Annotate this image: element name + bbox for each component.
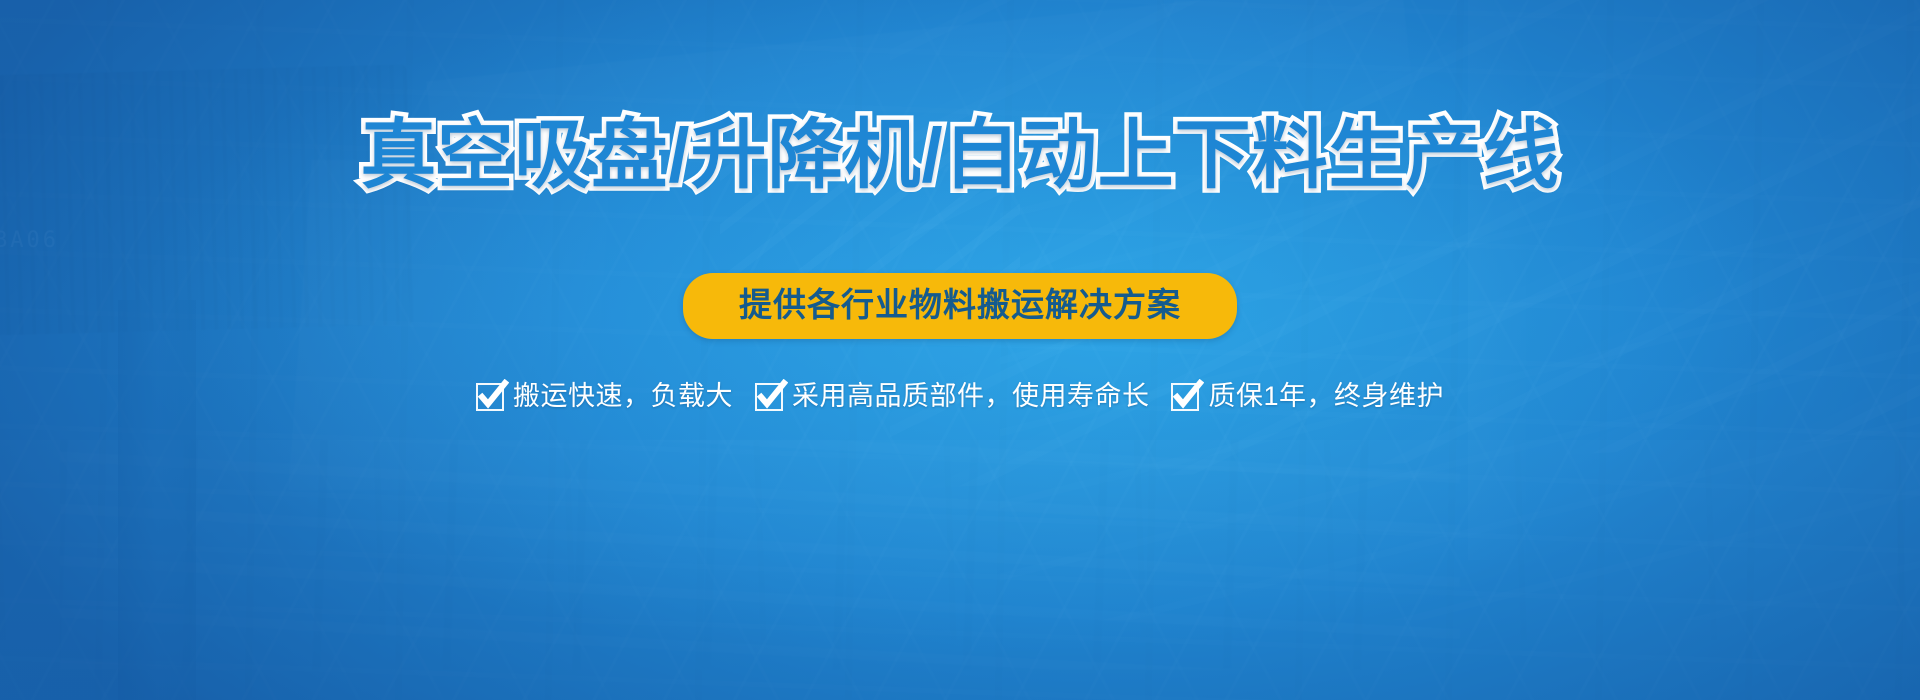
banner-headline: 真空吸盘/升降机/自动上下料生产线 xyxy=(360,118,1559,194)
check-icon xyxy=(755,383,783,411)
banner-content: 真空吸盘/升降机/自动上下料生产线 提供各行业物料搬运解决方案 搬运快速，负载大… xyxy=(0,0,1920,700)
feature-label: 采用高品质部件，使用寿命长 xyxy=(792,383,1150,410)
feature-item: 搬运快速，负载大 xyxy=(476,383,733,411)
feature-item: 采用高品质部件，使用寿命长 xyxy=(755,383,1150,411)
feature-list: 搬运快速，负载大 采用高品质部件，使用寿命长 质保1年，终身维护 xyxy=(476,383,1444,411)
feature-label: 质保1年，终身维护 xyxy=(1208,383,1444,410)
hero-banner: BA06 真空吸盘/升降机/自动上下料生产线 提供各行业物料搬运解决方案 搬运快… xyxy=(0,0,1920,700)
check-icon xyxy=(476,383,504,411)
check-icon xyxy=(1171,383,1199,411)
feature-item: 质保1年，终身维护 xyxy=(1171,383,1444,411)
feature-label: 搬运快速，负载大 xyxy=(513,383,733,410)
banner-subtitle-pill: 提供各行业物料搬运解决方案 xyxy=(683,273,1237,339)
